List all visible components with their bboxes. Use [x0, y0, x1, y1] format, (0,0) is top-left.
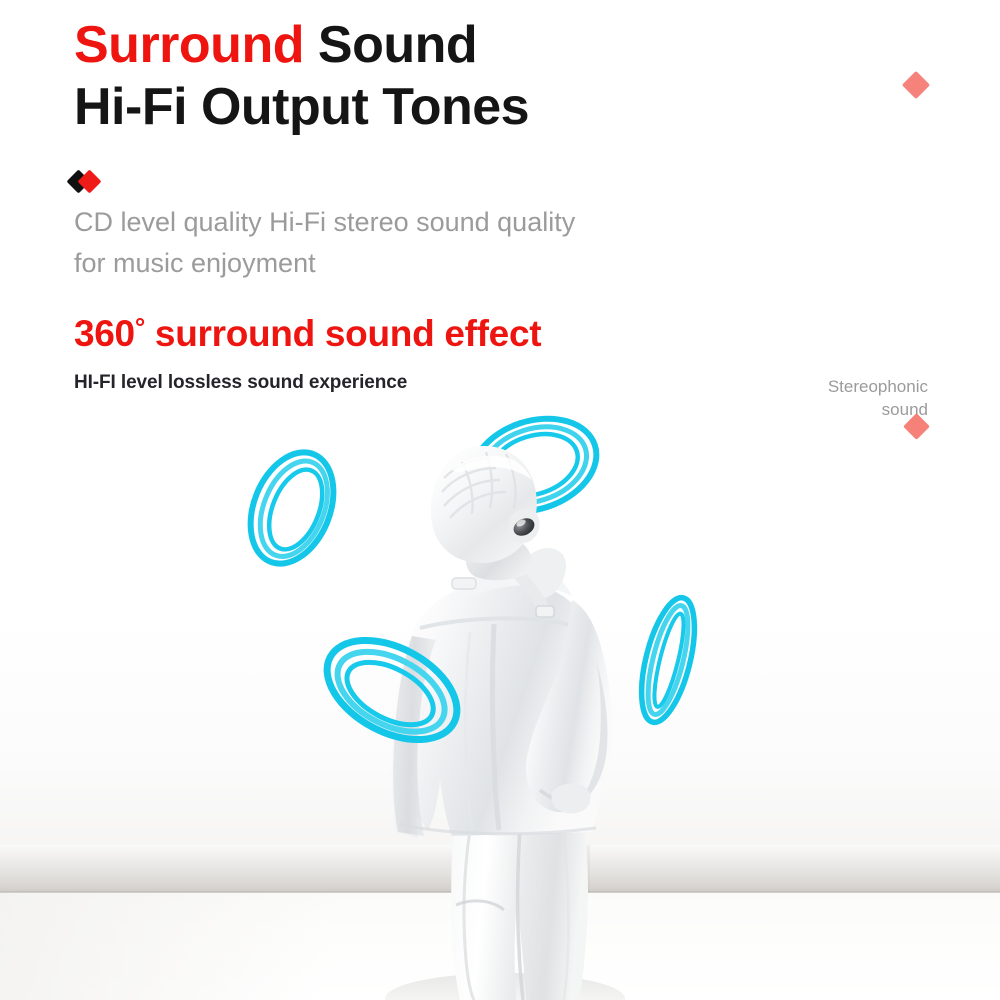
page-title-accent: Surround: [74, 16, 304, 74]
section-subheading: HI-FI level lossless sound experience: [74, 372, 407, 394]
floor-shadow: [0, 893, 380, 1000]
page-subtitle-line2: for music enjoyment: [74, 248, 316, 278]
stereophonic-label: Stereophonic sound: [728, 375, 928, 421]
page-title: Surround Sound Hi-Fi Output Tones: [74, 14, 794, 138]
page-subtitle-line1: CD level quality Hi-Fi stereo sound qual…: [74, 207, 575, 237]
section-heading-rest: surround sound effect: [145, 313, 541, 354]
page-subtitle: CD level quality Hi-Fi stereo sound qual…: [74, 202, 774, 284]
section-heading-number: 360: [74, 313, 135, 354]
page-title-line1-rest: Sound: [304, 16, 477, 74]
degree-symbol: °: [135, 312, 145, 342]
stereophonic-label-line1: Stereophonic: [828, 377, 928, 396]
section-heading: 360° surround sound effect: [74, 312, 541, 355]
page-title-line2: Hi-Fi Output Tones: [74, 78, 529, 136]
scene-background: [0, 0, 1000, 1000]
promo-banner: Surround Sound Hi-Fi Output Tones CD lev…: [0, 0, 1000, 1000]
wall-floor-band: [0, 845, 1000, 893]
accent-diamond-pair: [70, 170, 112, 196]
stereophonic-label-line2: sound: [882, 400, 928, 419]
